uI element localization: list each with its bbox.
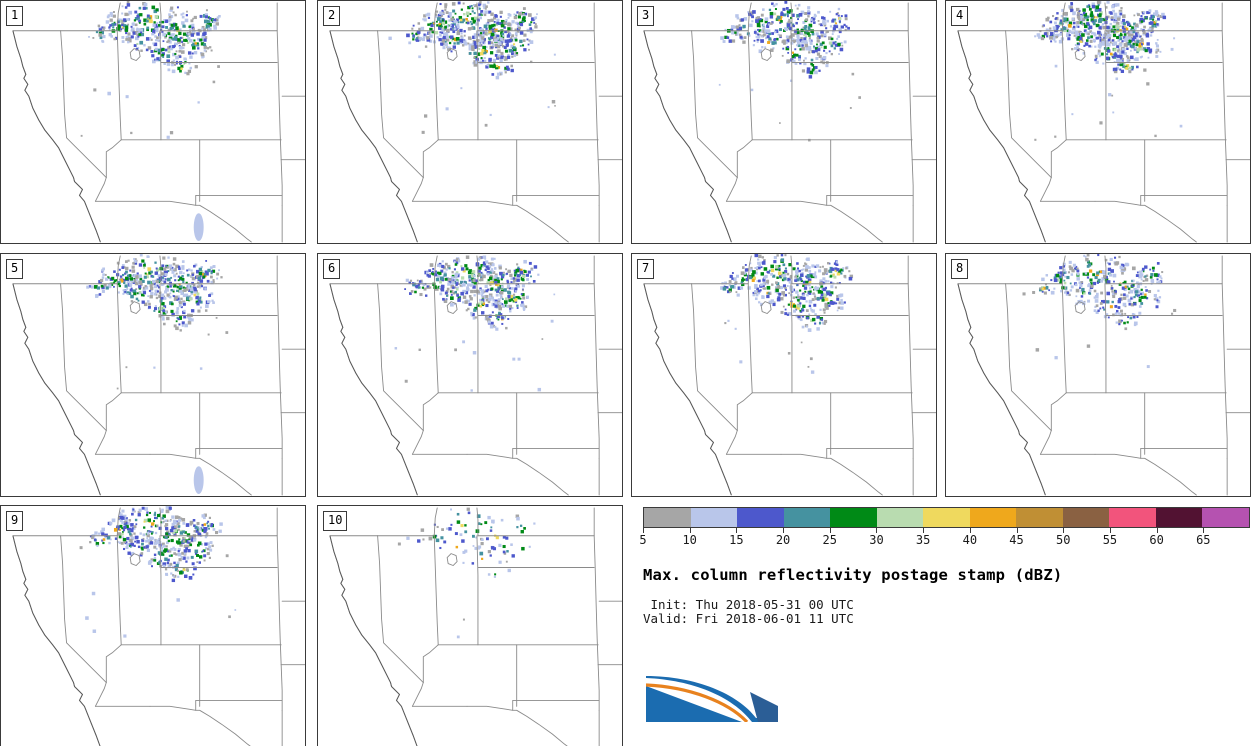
reflectivity-cell [495,54,498,57]
reflectivity-cell [487,64,489,66]
reflectivity-cell [1098,24,1100,26]
reflectivity-cell [1122,66,1124,68]
reflectivity-cell [484,14,486,16]
coastline [330,31,417,242]
reflectivity-cell [167,551,169,553]
reflectivity-cell [132,527,134,529]
map-panel-1[interactable]: 1 [0,0,306,244]
reflectivity-cell [500,16,502,18]
reflectivity-cell [478,267,481,270]
reflectivity-cell [470,21,472,23]
reflectivity-cell [439,31,441,33]
reflectivity-cell [450,303,454,307]
reflectivity-cell [171,64,174,67]
reflectivity-cell [472,10,474,12]
reflectivity-cell [100,279,103,282]
reflectivity-cell [123,18,126,21]
reflectivity-cell [1123,293,1126,296]
reflectivity-cell [1050,40,1052,42]
reflectivity-cell [1149,28,1152,31]
reflectivity-cell [194,466,204,494]
reflectivity-cell [452,30,455,33]
reflectivity-cell [436,11,438,13]
reflectivity-cell [757,41,759,43]
border-line [827,458,883,495]
reflectivity-cell [806,309,809,312]
reflectivity-cell [204,523,207,526]
reflectivity-cell [124,13,127,16]
reflectivity-cell [168,13,171,16]
reflectivity-cell [729,291,731,293]
reflectivity-cell [173,268,175,270]
map-panel-6[interactable]: 6 [317,253,623,497]
reflectivity-cell [204,46,207,49]
reflectivity-cell [818,269,821,272]
reflectivity-cell [1022,292,1025,295]
reflectivity-cell [101,532,104,535]
reflectivity-cell [803,60,805,62]
reflectivity-cell [821,318,823,320]
reflectivity-cell [170,289,172,291]
reflectivity-cell [764,46,766,48]
reflectivity-cell [757,24,761,28]
reflectivity-cell [144,3,148,7]
reflectivity-cell [830,25,832,27]
reflectivity-cell [522,279,524,281]
reflectivity-cell [835,41,837,43]
reflectivity-cell [1098,34,1100,36]
reflectivity-cell [492,65,496,69]
border-line [761,49,771,61]
map-panel-3[interactable]: 3 [631,0,937,244]
reflectivity-cell [1116,36,1119,39]
reflectivity-cell [125,546,128,549]
reflectivity-cell [1103,309,1105,311]
reflectivity-cell [130,295,134,299]
reflectivity-cell [473,351,476,354]
reflectivity-cell [172,516,174,518]
reflectivity-cell [1099,13,1102,16]
reflectivity-cell [186,14,188,16]
reflectivity-cell [120,28,122,30]
reflectivity-cell [514,288,516,290]
reflectivity-cell [177,67,180,70]
reflectivity-cell [1123,297,1126,300]
reflectivity-cell [752,279,755,282]
border-line [781,195,831,205]
reflectivity-cell [175,43,178,46]
reflectivity-cell [141,547,144,550]
map-panel-2[interactable]: 2 [317,0,623,244]
reflectivity-cell [1145,16,1147,18]
reflectivity-cell [1150,21,1154,25]
reflectivity-cell [194,213,204,241]
reflectivity-cell [1118,256,1120,258]
reflectivity-cell [1117,17,1120,20]
reflectivity-cell [127,275,129,277]
reflectivity-cell [98,533,100,535]
reflectivity-cell [1157,18,1160,21]
border-line [1040,431,1051,455]
reflectivity-cell [1096,293,1099,296]
reflectivity-cell [191,24,194,27]
reflectivity-cell [781,254,783,256]
reflectivity-cell [470,389,472,391]
border-line [106,393,121,431]
reflectivity-cell [1143,68,1146,71]
reflectivity-cell [446,295,448,297]
reflectivity-cell [1075,283,1078,286]
reflectivity-cell [529,27,532,30]
reflectivity-cell [1102,23,1104,25]
reflectivity-cell [485,269,487,271]
reflectivity-cell [1129,67,1132,70]
reflectivity-cell [838,307,841,310]
reflectivity-cell [469,279,471,281]
reflectivity-cell [729,39,732,42]
reflectivity-map [1,254,305,496]
reflectivity-cell [436,24,438,26]
reflectivity-cell [515,39,518,42]
map-panel-10[interactable]: 10 [317,505,623,746]
reflectivity-cell [1039,287,1041,289]
reflectivity-cell [121,24,123,26]
reflectivity-cell [491,546,494,549]
reflectivity-cell [441,285,444,288]
reflectivity-cell [97,286,100,289]
map-panel-4[interactable]: 4 [945,0,1251,244]
reflectivity-cell [824,303,827,306]
reflectivity-cell [491,41,494,44]
reflectivity-cell [177,286,179,288]
reflectivity-cell [1070,2,1073,5]
reflectivity-cell [192,274,194,276]
reflectivity-cell [1152,19,1154,21]
colorbar-tick-label: 65 [1196,533,1210,547]
reflectivity-cell [406,34,410,38]
reflectivity-cell [829,50,831,52]
reflectivity-cell [1121,320,1123,322]
reflectivity-cell [130,546,132,548]
reflectivity-cell [1129,317,1132,320]
reflectivity-cell [777,16,780,19]
reflectivity-cell [817,297,820,300]
reflectivity-cell [1102,270,1106,274]
reflectivity-cell [1056,274,1059,277]
reflectivity-cell [484,521,487,524]
reflectivity-cell [1154,135,1156,137]
reflectivity-cell [446,528,448,530]
reflectivity-cell [199,268,202,271]
reflectivity-cell [835,22,837,24]
reflectivity-cell [833,276,836,279]
reflectivity-cell [1130,56,1134,60]
reflectivity-cell [787,285,789,287]
reflectivity-cell [1048,289,1050,291]
border-line [1222,284,1226,413]
reflectivity-cell [504,300,508,304]
reflectivity-cell [1115,312,1117,314]
reflectivity-cell [1108,34,1111,37]
map-panel-8[interactable]: 8 [945,253,1251,497]
reflectivity-cell [519,274,521,276]
reflectivity-cell [1086,39,1089,42]
reflectivity-cell [734,31,736,33]
reflectivity-cell [478,48,480,50]
reflectivity-cell [1130,290,1134,294]
colorbar-tick-label: 20 [776,533,790,547]
reflectivity-cell [448,267,450,269]
reflectivity-cell [1089,269,1092,272]
reflectivity-cell [432,271,434,273]
reflectivity-cell [807,10,810,13]
reflectivity-cell [807,6,810,9]
reflectivity-cell [508,569,511,572]
reflectivity-cell [782,8,785,11]
reflectivity-cell [179,56,181,58]
reflectivity-cell [511,56,513,58]
reflectivity-cell [93,88,96,91]
reflectivity-cell [1115,77,1118,80]
reflectivity-cell [186,269,188,271]
reflectivity-cell [1058,272,1060,274]
reflectivity-cell [770,265,774,269]
reflectivity-cell [819,322,821,324]
reflectivity-cell [178,538,180,540]
reflectivity-cell [1112,111,1114,113]
reflectivity-cell [1099,308,1101,310]
reflectivity-cell [1127,56,1130,59]
reflectivity-cell [823,56,827,60]
reflectivity-cell [171,539,174,542]
reflectivity-cell [784,270,787,273]
reflectivity-cell [193,265,196,268]
map-panel-7[interactable]: 7 [631,253,937,497]
border-line [791,31,792,140]
map-panel-5[interactable]: 5 [0,253,306,497]
reflectivity-cell [204,559,206,561]
reflectivity-cell [1123,265,1125,267]
reflectivity-cell [207,300,210,303]
reflectivity-cell [105,274,107,276]
reflectivity-cell [730,285,732,287]
border-line [95,431,106,455]
reflectivity-cell [446,11,449,14]
coastline [13,536,100,746]
reflectivity-cell [193,284,196,287]
reflectivity-cell [180,37,182,39]
reflectivity-cell [1095,5,1099,9]
reflectivity-cell [753,44,755,46]
reflectivity-cell [178,32,181,35]
border-line [95,178,106,202]
reflectivity-cell [169,46,171,48]
reflectivity-cell [153,310,155,312]
reflectivity-cell [444,26,447,29]
border-line [412,683,423,707]
reflectivity-cell [720,36,724,40]
coastline [644,284,731,495]
reflectivity-cell [795,5,797,7]
reflectivity-cell [742,266,744,268]
reflectivity-cell [109,24,112,27]
reflectivity-cell [176,564,179,567]
border-line [748,31,752,140]
reflectivity-cell [468,512,471,515]
reflectivity-cell [164,557,167,560]
reflectivity-cell [462,340,465,343]
reflectivity-cell [187,287,190,290]
reflectivity-cell [799,290,801,292]
reflectivity-cell [209,557,211,559]
reflectivity-cell [801,342,803,344]
reflectivity-cell [180,572,182,574]
reflectivity-cell [105,537,107,539]
reflectivity-cell [189,543,192,546]
reflectivity-cell [724,322,726,324]
reflectivity-cell [137,272,139,274]
reflectivity-cell [1111,5,1114,8]
reflectivity-cell [199,555,202,558]
reflectivity-cell [458,1,461,4]
reflectivity-cell [189,297,192,300]
reflectivity-cell [98,33,101,36]
reflectivity-cell [485,8,487,10]
reflectivity-cell [533,280,536,283]
reflectivity-cell [183,303,186,306]
reflectivity-cell [783,274,786,277]
reflectivity-cell [462,562,464,564]
reflectivity-cell [785,289,787,291]
reflectivity-cell [804,12,807,15]
reflectivity-cell [1049,36,1053,40]
reflectivity-cell [770,12,774,16]
reflectivity-cell [127,293,129,295]
border-line [781,448,831,458]
reflectivity-cell [119,536,122,539]
reflectivity-cell [208,334,210,336]
reflectivity-cell [161,509,164,512]
reflectivity-cell [506,561,508,563]
map-panel-9[interactable]: 9 [0,505,306,746]
reflectivity-cell [162,256,165,259]
reflectivity-cell [797,304,800,307]
reflectivity-cell [809,278,811,280]
reflectivity-cell [167,285,169,287]
reflectivity-cell [460,285,462,287]
reflectivity-cell [99,293,102,296]
reflectivity-cell [1119,55,1122,58]
reflectivity-cell [123,526,126,529]
reflectivity-cell [113,270,116,273]
reflectivity-cell [1146,82,1149,85]
reflectivity-cell [211,300,213,302]
reflectivity-cell [139,7,142,10]
border-line [160,31,161,140]
reflectivity-cell [522,13,524,15]
reflectivity-cell [786,59,790,63]
reflectivity-cell [1076,8,1079,11]
reflectivity-cell [412,38,414,40]
reflectivity-cell [457,30,459,32]
reflectivity-cell [164,298,166,300]
reflectivity-cell [156,297,158,299]
reflectivity-cell [1089,292,1091,294]
reflectivity-cell [1106,53,1108,55]
reflectivity-cell [499,266,502,269]
reflectivity-cell [1113,34,1116,37]
reflectivity-cell [1138,312,1141,315]
reflectivity-cell [836,264,838,266]
reflectivity-cell [217,65,220,68]
reflectivity-cell [514,13,516,15]
reflectivity-cell [167,40,169,42]
reflectivity-cell [454,261,456,263]
reflectivity-cell [461,539,464,542]
colorbar-tick-label: 55 [1103,533,1117,547]
reflectivity-cell [1111,290,1113,292]
reflectivity-cell [88,36,90,38]
reflectivity-cell [478,4,480,6]
reflectivity-cell [487,1,489,3]
reflectivity-cell [1099,121,1102,124]
reflectivity-cell [439,28,441,30]
reflectivity-cell [852,73,855,76]
reflectivity-cell [192,574,194,576]
reflectivity-cell [806,294,808,296]
reflectivity-cell [203,43,206,46]
reflectivity-cell [404,288,406,290]
reflectivity-cell [1124,327,1127,330]
reflectivity-cell [124,291,126,293]
reflectivity-cell [515,33,518,36]
reflectivity-cell [125,277,129,281]
reflectivity-cell [197,292,200,295]
reflectivity-cell [419,293,422,296]
colorbar-swatch [1156,508,1203,527]
reflectivity-cell [519,40,522,43]
reflectivity-cell [800,278,802,280]
reflectivity-cell [139,13,142,16]
reflectivity-cell [151,522,154,525]
reflectivity-cell [807,274,811,278]
reflectivity-cell [757,36,759,38]
reflectivity-cell [1055,18,1057,20]
reflectivity-cell [178,276,180,278]
reflectivity-cell [836,298,839,301]
reflectivity-cell [1108,39,1111,42]
reflectivity-cell [176,320,178,322]
reflectivity-cell [1133,14,1135,16]
reflectivity-cell [490,526,492,528]
reflectivity-cell [489,25,493,29]
reflectivity-cell [513,46,516,49]
reflectivity-cell [491,73,494,76]
reflectivity-cell [526,296,529,299]
reflectivity-cell [178,550,180,552]
reflectivity-cell [112,518,116,522]
colorbar-tick-label: 25 [823,533,837,547]
reflectivity-field [388,1,555,134]
reflectivity-cell [178,50,180,52]
reflectivity-cell [156,36,159,39]
reflectivity-cell [776,254,778,256]
reflectivity-cell [209,549,212,552]
reflectivity-cell [178,267,181,270]
reflectivity-cell [1156,281,1158,283]
reflectivity-cell [802,297,805,300]
reflectivity-cell [210,266,213,269]
